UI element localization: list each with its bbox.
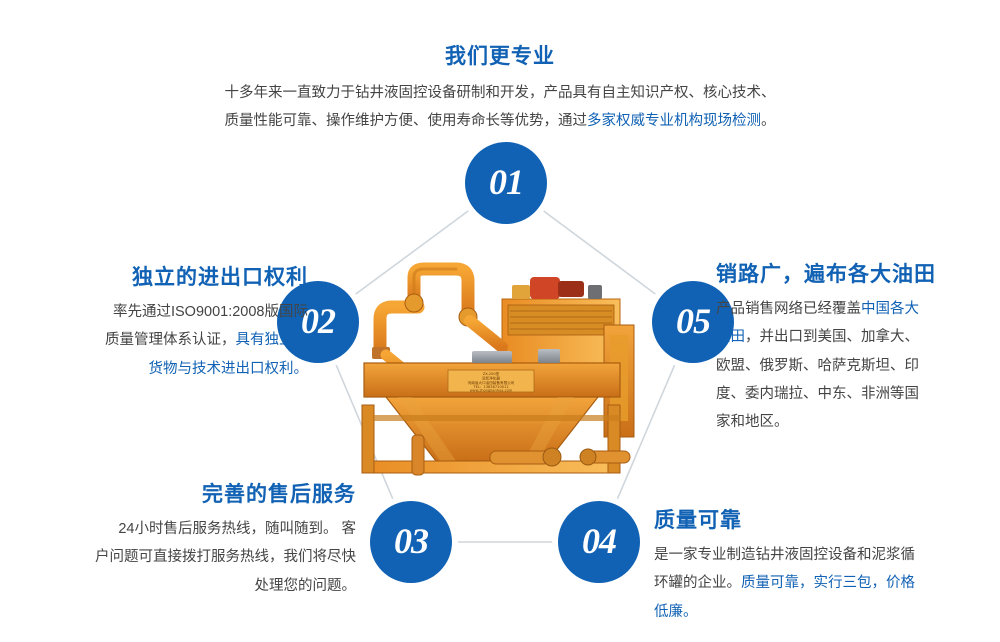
feature-block-after-sales: 完善的售后服务 24小时售后服务热线，随叫随到。 客 户问题可直接拨打服务热线，… [14,482,356,600]
text-line-5: 家和地区。 [716,414,789,430]
machine-illustration: ZX-200型 泥浆净化器 河南省大口油田装备有限公司 TEL：13838710… [352,255,652,487]
text-highlight-china-oilfields-2: 油田 [716,329,745,345]
text-line-2b: ，并出口到美国、加拿大、 [745,329,919,345]
node-label-05: 05 [676,303,710,339]
node-label-04: 04 [582,523,616,559]
feature-title-after-sales: 完善的售后服务 [14,482,356,507]
infographic-stage: ZX-200型 泥浆净化器 河南省大口油田装备有限公司 TEL：13838710… [0,0,1000,642]
feature-block-import-export: 独立的进出口权利 率先通过ISO9001:2008版国际 质量管理体系认证，具有… [18,265,308,383]
text-line-1a: 产品销售网络已经覆盖 [716,301,861,317]
svg-text:泥浆净化器: 泥浆净化器 [482,376,500,381]
text-highlight-china-oilfields-1: 中国各大 [861,301,919,317]
node-label-03: 03 [394,523,428,559]
feature-body-import-export: 率先通过ISO9001:2008版国际 质量管理体系认证，具有独立的 货物与技术… [18,298,308,383]
svg-text:www.zhonglianhua.com: www.zhonglianhua.com [470,389,513,393]
text-line-2: 户问题可直接拨打服务热线，我们将尽快 [95,549,356,565]
text-line-2a: 质量管理体系认证， [105,332,236,348]
feature-title-professional: 我们更专业 [148,44,852,69]
node-circle-03[interactable]: 03 [370,501,452,583]
text-highlight-quality-guarantee: 质量可靠，实行三包，价格 [741,575,915,591]
feature-body-professional: 十多年来一直致力于钻井液固控设备研制和开发，产品具有自主知识产权、核心技术、 质… [148,79,852,136]
svg-text:ZX-200型: ZX-200型 [483,371,500,376]
text-line-4: 度、委内瑞拉、中东、非洲等国 [716,386,919,402]
feature-title-sales-network: 销路广，遍布各大油田 [716,262,990,287]
text-highlight-rights: 货物与技术进出口权利。 [149,361,309,377]
text-line-2a: 环罐的企业。 [654,575,741,591]
feature-body-sales-network: 产品销售网络已经覆盖中国各大 油田，并出口到美国、加拿大、 欧盟、俄罗斯、哈萨克… [716,295,990,436]
text-line-1: 是一家专业制造钻井液固控设备和泥浆循 [654,547,915,563]
text-line-2a: 质量性能可靠、操作维护方便、使用寿命长等优势，通过 [225,113,588,129]
text-line-1: 十多年来一直致力于钻井液固控设备研制和开发，产品具有自主知识产权、核心技术、 [225,85,776,101]
text-highlight-independent: 具有独立的 [236,332,309,348]
feature-title-quality: 质量可靠 [654,508,992,533]
text-highlight-inspection: 多家权威专业机构现场检测 [587,113,761,129]
text-line-3: 处理您的问题。 [255,578,357,594]
feature-body-after-sales: 24小时售后服务热线，随叫随到。 客 户问题可直接拨打服务热线，我们将尽快 处理… [14,515,356,600]
node-label-01: 01 [489,164,523,200]
node-circle-01[interactable]: 01 [465,142,547,224]
feature-block-sales-network: 销路广，遍布各大油田 产品销售网络已经覆盖中国各大 油田，并出口到美国、加拿大、… [716,262,990,437]
node-circle-04[interactable]: 04 [558,501,640,583]
feature-block-professional: 我们更专业 十多年来一直致力于钻井液固控设备研制和开发，产品具有自主知识产权、核… [148,44,852,136]
text-line-3: 欧盟、俄罗斯、哈萨克斯坦、印 [716,358,919,374]
text-line-1: 率先通过ISO9001:2008版国际 [113,304,308,320]
text-highlight-low-price: 低廉。 [654,604,698,620]
text-line-2c: 。 [761,113,776,129]
feature-body-quality: 是一家专业制造钻井液固控设备和泥浆循 环罐的企业。质量可靠，实行三包，价格 低廉… [654,541,992,626]
text-line-1: 24小时售后服务热线，随叫随到。 客 [118,521,356,537]
feature-block-quality: 质量可靠 是一家专业制造钻井液固控设备和泥浆循 环罐的企业。质量可靠，实行三包，… [654,508,992,626]
feature-title-import-export: 独立的进出口权利 [18,265,308,290]
